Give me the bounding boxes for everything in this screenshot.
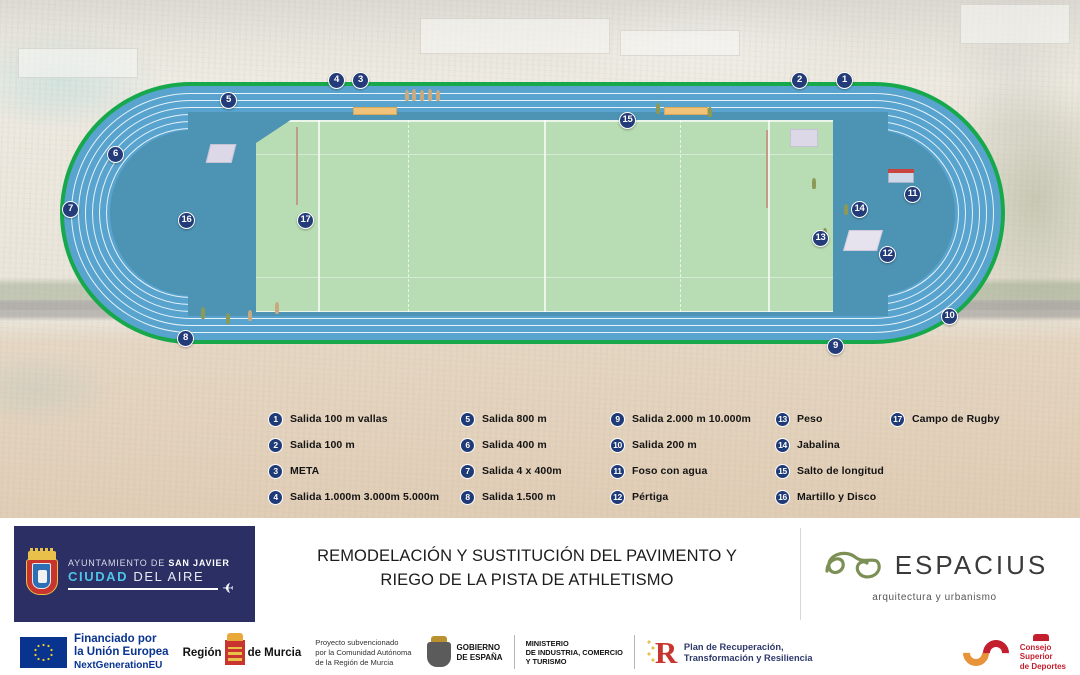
- pole-vault-landing-pit: [843, 230, 883, 251]
- legend-badge-7: 7: [460, 464, 475, 479]
- legend-badge-11: 11: [610, 464, 625, 479]
- legend-badge-13: 13: [775, 412, 790, 427]
- title-band: AYUNTAMIENTO DE SAN JAVIER CIUDAD DEL AI…: [0, 518, 1080, 628]
- high-jump-mat: [206, 144, 237, 163]
- legend-label-17: Campo de Rugby: [912, 413, 1000, 425]
- map-marker-17[interactable]: 17: [297, 212, 314, 229]
- athlete-figure: [420, 90, 424, 101]
- legend-label-1: Salida 100 m vallas: [290, 413, 388, 425]
- legend-badge-2: 2: [268, 438, 283, 453]
- legend-column-2: 5Salida 800 m6Salida 400 m7Salida 4 x 40…: [460, 406, 562, 510]
- gobierno-text: GOBIERNO DE ESPAÑA: [457, 643, 503, 663]
- map-marker-3[interactable]: 3: [352, 72, 369, 89]
- building-footprint: [620, 30, 740, 56]
- legend-label-16: Martillo y Disco: [797, 491, 876, 503]
- legend-item-16[interactable]: 16Martillo y Disco: [775, 484, 884, 510]
- legend-item-3[interactable]: 3META: [268, 458, 439, 484]
- legend-badge-12: 12: [610, 490, 625, 505]
- legend-label-13: Peso: [797, 413, 823, 425]
- eu-flag-icon: [20, 637, 67, 668]
- legend-badge-1: 1: [268, 412, 283, 427]
- subvencion-line3: de la Región de Murcia: [315, 658, 411, 668]
- legend-label-10: Salida 200 m: [632, 439, 697, 451]
- legend-item-1[interactable]: 1Salida 100 m vallas: [268, 406, 439, 432]
- legend-column-1: 1Salida 100 m vallas2Salida 100 m3META4S…: [268, 406, 439, 510]
- map-marker-7[interactable]: 7: [62, 201, 79, 218]
- athlete-figure: [428, 89, 432, 101]
- legend-item-14[interactable]: 14Jabalina: [775, 432, 884, 458]
- legend-badge-9: 9: [610, 412, 625, 427]
- gobierno-espana-block: GOBIERNO DE ESPAÑA: [419, 629, 510, 675]
- legend-item-8[interactable]: 8Salida 1.500 m: [460, 484, 562, 510]
- ministerio-line3: Y TURISMO: [526, 657, 623, 666]
- athlete-figure: [201, 307, 205, 319]
- legend-badge-4: 4: [268, 490, 283, 505]
- athlete-figure: [412, 89, 416, 101]
- region-murcia-block: Región de Murcia: [176, 629, 309, 675]
- map-marker-5[interactable]: 5: [220, 92, 237, 109]
- athlete-figure: [708, 107, 712, 117]
- steeplechase-barrier: [888, 169, 914, 173]
- pitch-line: [768, 120, 770, 312]
- legend-label-14: Jabalina: [797, 439, 840, 451]
- map-marker-12[interactable]: 12: [879, 246, 896, 263]
- legend: 1Salida 100 m vallas2Salida 100 m3META4S…: [0, 406, 1080, 518]
- csd-block: Consejo Superior de Deportes: [956, 629, 1080, 675]
- legend-column-5: 17Campo de Rugby: [890, 406, 1000, 432]
- legend-badge-14: 14: [775, 438, 790, 453]
- csd-text-wrap: Consejo Superior de Deportes: [1017, 634, 1066, 672]
- legend-item-17[interactable]: 17Campo de Rugby: [890, 406, 1000, 432]
- legend-label-8: Salida 1.500 m: [482, 491, 556, 503]
- csd-crown-icon: [1033, 634, 1049, 641]
- ministerio-line2: DE INDUSTRIA, COMERCIO: [526, 648, 623, 657]
- legend-item-9[interactable]: 9Salida 2.000 m 10.000m: [610, 406, 751, 432]
- legend-badge-5: 5: [460, 412, 475, 427]
- csd-line3: de Deportes: [1020, 662, 1066, 672]
- legend-item-2[interactable]: 2Salida 100 m: [268, 432, 439, 458]
- espacius-monogram-icon: [821, 545, 889, 585]
- espacius-name: ESPACIUS: [895, 550, 1049, 581]
- prtr-logo-icon: R: [646, 636, 680, 669]
- ministerio-line1: MINISTERIO: [526, 639, 623, 648]
- divider: [634, 635, 635, 669]
- map-marker-13[interactable]: 13: [812, 230, 829, 247]
- spain-coat-of-arms-icon: [426, 636, 452, 669]
- legend-label-12: Pértiga: [632, 491, 668, 503]
- ayuntamiento-line2: CIUDAD DEL AIRE: [68, 569, 230, 584]
- legend-item-7[interactable]: 7Salida 4 x 400m: [460, 458, 562, 484]
- legend-badge-15: 15: [775, 464, 790, 479]
- subvencion-line2: por la Comunidad Autónoma: [315, 648, 411, 658]
- legend-badge-3: 3: [268, 464, 283, 479]
- divider: [514, 635, 515, 669]
- long-jump-runway: [664, 107, 708, 115]
- ayuntamiento-line1: AYUNTAMIENTO DE SAN JAVIER: [68, 558, 230, 568]
- csd-line1: Consejo: [1020, 643, 1066, 653]
- map-marker-9[interactable]: 9: [827, 338, 844, 355]
- pitch-line: [256, 154, 833, 155]
- legend-label-4: Salida 1.000m 3.000m 5.000m: [290, 491, 439, 503]
- legend-label-6: Salida 400 m: [482, 439, 547, 451]
- eu-line3: NextGenerationEU: [74, 659, 169, 672]
- eu-funding-block: Financiado por la Unión Europea NextGene…: [0, 629, 176, 675]
- prtr-block: R Plan de Recuperación, Transformación y…: [639, 629, 820, 675]
- pitch-line: [318, 120, 320, 312]
- athlete-figure: [248, 310, 252, 321]
- legend-label-9: Salida 2.000 m 10.000m: [632, 413, 751, 425]
- legend-badge-10: 10: [610, 438, 625, 453]
- legend-column-3: 9Salida 2.000 m 10.000m10Salida 200 m11F…: [610, 406, 751, 510]
- ministerio-text: MINISTERIO DE INDUSTRIA, COMERCIO Y TURI…: [526, 639, 623, 666]
- athlete-figure: [226, 313, 230, 324]
- legend-item-13[interactable]: 13Peso: [775, 406, 884, 432]
- map-marker-11[interactable]: 11: [904, 186, 921, 203]
- legend-badge-16: 16: [775, 490, 790, 505]
- subvencion-text: Proyecto subvencionado por la Comunidad …: [315, 638, 411, 668]
- pitch-dashed-line: [680, 120, 681, 312]
- eu-funding-text: Financiado por la Unión Europea NextGene…: [74, 633, 169, 672]
- legend-badge-8: 8: [460, 490, 475, 505]
- subvencion-line1: Proyecto subvencionado: [315, 638, 411, 648]
- map-marker-16[interactable]: 16: [178, 212, 195, 229]
- funding-bar: Financiado por la Unión Europea NextGene…: [0, 628, 1080, 675]
- legend-label-15: Salto de longitud: [797, 465, 884, 477]
- legend-label-5: Salida 800 m: [482, 413, 547, 425]
- legend-item-6[interactable]: 6Salida 400 m: [460, 432, 562, 458]
- pitch-line: [256, 277, 833, 278]
- page-title-line1: REMODELACIÓN Y SUSTITUCIÓN DEL PAVIMENTO…: [262, 544, 792, 568]
- ministerio-block: MINISTERIO DE INDUSTRIA, COMERCIO Y TURI…: [519, 629, 630, 675]
- legend-column-4: 13Peso14Jabalina15Salto de longitud16Mar…: [775, 406, 884, 510]
- map-marker-6[interactable]: 6: [107, 146, 124, 163]
- legend-label-7: Salida 4 x 400m: [482, 465, 562, 477]
- eu-line1: Financiado por: [74, 633, 169, 646]
- legend-badge-17: 17: [890, 412, 905, 427]
- legend-badge-6: 6: [460, 438, 475, 453]
- legend-label-11: Foso con agua: [632, 465, 707, 477]
- map-marker-4[interactable]: 4: [328, 72, 345, 89]
- csd-text: Consejo Superior de Deportes: [1020, 643, 1066, 672]
- athlete-figure: [405, 90, 409, 101]
- rugby-goal-post: [296, 127, 298, 205]
- pitch-line: [544, 120, 546, 312]
- map-marker-10[interactable]: 10: [941, 308, 958, 325]
- subvencion-block: Proyecto subvencionado por la Comunidad …: [308, 629, 418, 675]
- legend-item-10[interactable]: 10Salida 200 m: [610, 432, 751, 458]
- building-footprint: [960, 4, 1070, 44]
- pitch-dashed-line: [408, 120, 409, 312]
- legend-item-11[interactable]: 11Foso con agua: [610, 458, 751, 484]
- water-jump-pit: [888, 172, 914, 183]
- athlete-figure: [656, 103, 660, 114]
- stadium-infographic-page: 1234567891011121314151617 1Salida 100 m …: [0, 0, 1080, 675]
- map-marker-15[interactable]: 15: [619, 112, 636, 129]
- map-marker-2[interactable]: 2: [791, 72, 808, 89]
- athlete-figure: [812, 178, 816, 189]
- building-footprint: [420, 18, 610, 54]
- prtr-line2: Transformación y Resiliencia: [684, 653, 813, 664]
- prtr-text: Plan de Recuperación, Transformación y R…: [684, 642, 813, 664]
- page-title-line2: RIEGO DE LA PISTA DE ATHLETISMO: [262, 568, 792, 592]
- espacius-logo: ESPACIUS arquitectura y urbanismo: [800, 528, 1068, 620]
- murcia-right-text: de Murcia: [248, 647, 302, 659]
- airplane-icon: [68, 588, 218, 590]
- athlete-figure: [275, 302, 279, 314]
- legend-item-4[interactable]: 4Salida 1.000m 3.000m 5.000m: [268, 484, 439, 510]
- ayuntamiento-logo: AYUNTAMIENTO DE SAN JAVIER CIUDAD DEL AI…: [14, 526, 255, 622]
- legend-label-3: META: [290, 465, 319, 477]
- legend-item-12[interactable]: 12Pértiga: [610, 484, 751, 510]
- murcia-crest-icon: [225, 640, 245, 665]
- espacius-tagline: arquitectura y urbanismo: [872, 592, 996, 603]
- page-title: REMODELACIÓN Y SUSTITUCIÓN DEL PAVIMENTO…: [262, 544, 792, 592]
- legend-item-5[interactable]: 5Salida 800 m: [460, 406, 562, 432]
- eu-line2: la Unión Europea: [74, 646, 169, 659]
- csd-logo-icon: [963, 637, 1017, 669]
- prtr-line1: Plan de Recuperación,: [684, 642, 813, 653]
- pole-vault-mat: [790, 129, 818, 147]
- athlete-figure: [844, 204, 848, 215]
- athlete-figure: [436, 90, 440, 101]
- map-marker-1[interactable]: 1: [836, 72, 853, 89]
- gobierno-line1: GOBIERNO: [457, 643, 503, 653]
- legend-label-2: Salida 100 m: [290, 439, 355, 451]
- gobierno-line2: DE ESPAÑA: [457, 653, 503, 663]
- map-marker-14[interactable]: 14: [851, 201, 868, 218]
- csd-line2: Superior: [1020, 652, 1066, 662]
- murcia-left-text: Región: [183, 647, 222, 659]
- ayuntamiento-text: AYUNTAMIENTO DE SAN JAVIER CIUDAD DEL AI…: [68, 558, 230, 590]
- rugby-goal-post: [766, 130, 768, 208]
- long-jump-runway: [353, 107, 397, 115]
- legend-item-15[interactable]: 15Salto de longitud: [775, 458, 884, 484]
- building-footprint: [18, 48, 138, 78]
- coat-of-arms-icon: [24, 551, 60, 597]
- map-marker-8[interactable]: 8: [177, 330, 194, 347]
- rugby-pitch: [256, 120, 833, 312]
